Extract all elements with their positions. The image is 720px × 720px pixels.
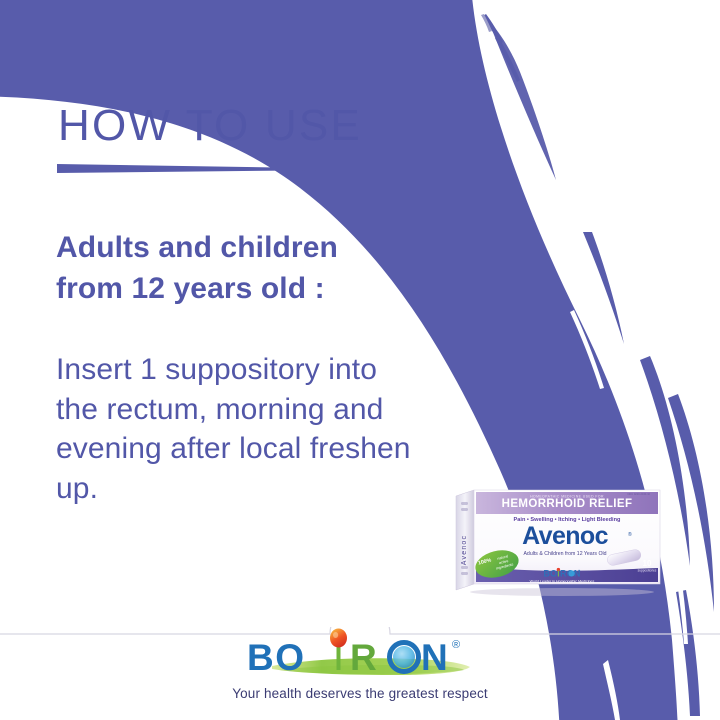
box-side-brand-text: Avenoc	[461, 535, 468, 565]
instructions-body: Insert 1 suppository into the rectum, mo…	[56, 350, 516, 508]
logo-text-r: R	[350, 637, 378, 678]
body-line-3: evening after local freshen	[56, 429, 516, 469]
svg-text:Avenoc: Avenoc	[461, 535, 468, 565]
svg-text:BOIRON: BOIRON	[543, 568, 580, 578]
logo-text-n: N	[421, 637, 449, 678]
swoosh-hair-1	[483, 14, 503, 44]
swoosh-fleck-2	[583, 232, 624, 344]
box-count-label: suppositories	[638, 569, 657, 573]
box-shadow	[470, 588, 654, 596]
page-title: HOW TO USE	[58, 104, 362, 148]
title-underline	[57, 163, 323, 175]
side-mark-4	[461, 572, 468, 575]
side-mark-1	[461, 502, 468, 505]
promo-slide: HOW TO USE Adults and children from 12 y…	[0, 0, 720, 720]
logo-ball-icon	[330, 629, 347, 648]
body-line-4: up.	[56, 469, 516, 509]
logo-ball-highlight	[333, 632, 338, 638]
box-logo-circle	[569, 570, 575, 576]
lead-line-2: from 12 years old :	[56, 269, 456, 310]
box-maker-strapline: World Leader in Homeopathic Medicines	[530, 580, 595, 584]
logo-registered-mark: ®	[452, 639, 460, 651]
body-line-2: the rectum, morning and	[56, 390, 516, 430]
swoosh-fleck-4	[668, 394, 714, 612]
boiron-logo: BO R N ®	[0, 626, 720, 688]
box-count: 10	[643, 559, 652, 568]
swoosh-split-3	[570, 310, 604, 389]
box-brand-text: Avenoc	[522, 522, 608, 550]
box-brand-trademark: ®	[628, 531, 632, 538]
brand-tagline: Your health deserves the greatest respec…	[0, 686, 720, 701]
instructions-lead: Adults and children from 12 years old :	[56, 228, 456, 310]
box-maker-logo: BOIRON ®	[543, 568, 581, 579]
box-logo-stem	[558, 571, 559, 577]
lead-line-1: Adults and children	[56, 228, 456, 269]
box-audience-text: Adults & Children from 12 Years Old	[523, 551, 606, 557]
box-category-text: HEMORRHOID RELIEF	[502, 498, 633, 510]
product-box-image: Avenoc HOMEOPATHIC MEDICINE USED FOR HEM…	[452, 484, 664, 596]
swoosh-speck	[481, 14, 492, 32]
logo-o-fill	[393, 646, 415, 668]
swoosh-hair-2	[495, 36, 520, 82]
body-line-1: Insert 1 suppository into	[56, 350, 516, 390]
side-mark-2	[461, 508, 468, 511]
swoosh-fleck-1	[488, 20, 556, 180]
logo-text-bo: BO	[247, 637, 306, 678]
side-mark-3	[461, 566, 468, 569]
box-corner-code: NDC 0220-2040-42	[628, 492, 651, 496]
